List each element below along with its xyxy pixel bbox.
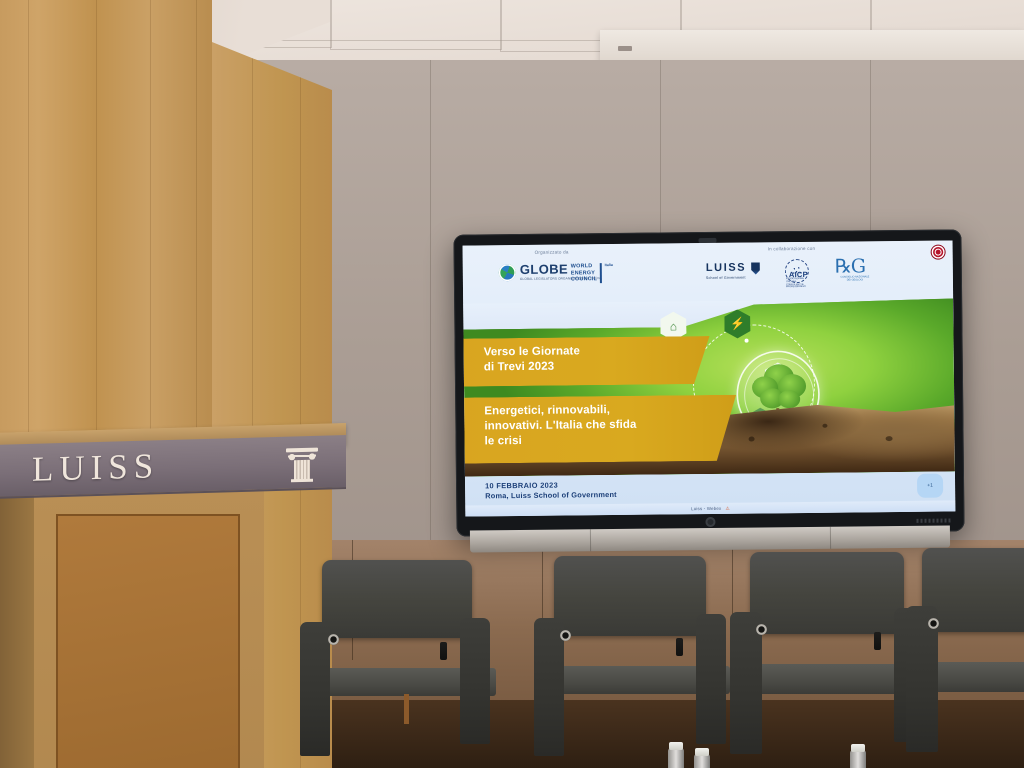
house-icon: ⌂ bbox=[670, 320, 677, 332]
red-seal-icon bbox=[932, 246, 945, 259]
chair-grommet-icon bbox=[928, 618, 939, 629]
event-date: 10 FEBBRAIO 2023 bbox=[485, 480, 617, 490]
conference-room-photo: Organizzato da In collaborazione con GLO… bbox=[0, 0, 1024, 768]
chair-latch-icon bbox=[440, 642, 447, 660]
slide-subtitle-band: Energetici, rinnovabili, innovativi. L'I… bbox=[463, 395, 745, 464]
cng-monogram-icon: ℞G bbox=[835, 259, 875, 275]
chair-latch-icon bbox=[676, 638, 683, 656]
lectern-label: LUISS bbox=[32, 446, 159, 490]
housing-label bbox=[618, 46, 632, 51]
chair-backrest bbox=[750, 552, 904, 634]
luiss-wordmark: LUISS bbox=[706, 263, 747, 274]
slide-title-band: Verso le Giornate di Trevi 2023 bbox=[463, 336, 716, 387]
slide-logo-header: Organizzato da In collaborazione con GLO… bbox=[463, 240, 954, 303]
chair-leg bbox=[404, 694, 409, 724]
table-row[interactable] bbox=[906, 548, 1024, 768]
cng-subtitle: CONSIGLIO NAZIONALE DEI GEOLOGI bbox=[835, 275, 875, 281]
chair-backrest bbox=[554, 556, 706, 636]
chair-armrest-right bbox=[460, 618, 490, 744]
participants-badge[interactable]: +1 bbox=[917, 474, 943, 498]
lectern-front-panel bbox=[56, 514, 240, 768]
chair-grommet-icon bbox=[756, 624, 767, 635]
organizers-caption: Organizzato da bbox=[535, 249, 569, 254]
logo-aicp: AICP ASSOCIAZIONE ITALIANA CONSULENTI E … bbox=[785, 259, 815, 285]
wall-mounted-display[interactable]: Organizzato da In collaborazione con GLO… bbox=[453, 229, 964, 536]
ionic-column-icon bbox=[286, 448, 318, 483]
event-place: Roma, Luiss School of Government bbox=[485, 490, 617, 500]
aicp-subtitle: ASSOCIAZIONE ITALIANA CONSULENTI E PROFE… bbox=[786, 278, 812, 289]
collaboration-caption: In collaborazione con bbox=[768, 246, 816, 251]
slide-footer: 10 FEBBRAIO 2023 Roma, Luiss School of G… bbox=[485, 480, 617, 500]
speaker-grille-icon bbox=[916, 518, 950, 522]
slide-title-line2: di Trevi 2023 bbox=[484, 358, 716, 376]
luiss-subtitle: School of Government bbox=[706, 276, 746, 280]
globe-icon bbox=[499, 264, 516, 281]
power-plug-icon: ⚡ bbox=[730, 318, 745, 330]
table-row[interactable] bbox=[534, 556, 744, 768]
logo-world-energy-council: WORLD ENERGY COUNCIL Italia bbox=[571, 263, 613, 283]
warning-icon[interactable]: ⚠ bbox=[725, 505, 729, 511]
webex-session-label: Luiss - Webex bbox=[691, 506, 721, 511]
chair-armrest-left bbox=[534, 618, 564, 756]
lectern: LUISS bbox=[0, 428, 360, 768]
participants-badge-label: +1 bbox=[927, 483, 933, 489]
wec-wordmark: WORLD ENERGY COUNCIL bbox=[571, 263, 598, 283]
presentation-slide: Organizzato da In collaborazione con GLO… bbox=[463, 240, 956, 516]
chair-latch-icon bbox=[874, 632, 881, 650]
lectern-side bbox=[0, 488, 34, 768]
chair-armrest-right bbox=[696, 614, 726, 744]
slide-subtitle-line3: le crisi bbox=[485, 432, 745, 450]
logo-cng: ℞G CONSIGLIO NAZIONALE DEI GEOLOGI bbox=[835, 259, 875, 282]
display-screen[interactable]: Organizzato da In collaborazione con GLO… bbox=[463, 240, 956, 516]
luiss-crest-icon bbox=[751, 262, 760, 274]
wec-divider bbox=[600, 263, 602, 283]
ir-sensor-icon[interactable] bbox=[705, 517, 715, 527]
chair-grommet-icon bbox=[560, 630, 571, 641]
logo-luiss-sog: LUISS School of Government bbox=[706, 262, 761, 280]
wec-country: Italia bbox=[605, 263, 613, 267]
